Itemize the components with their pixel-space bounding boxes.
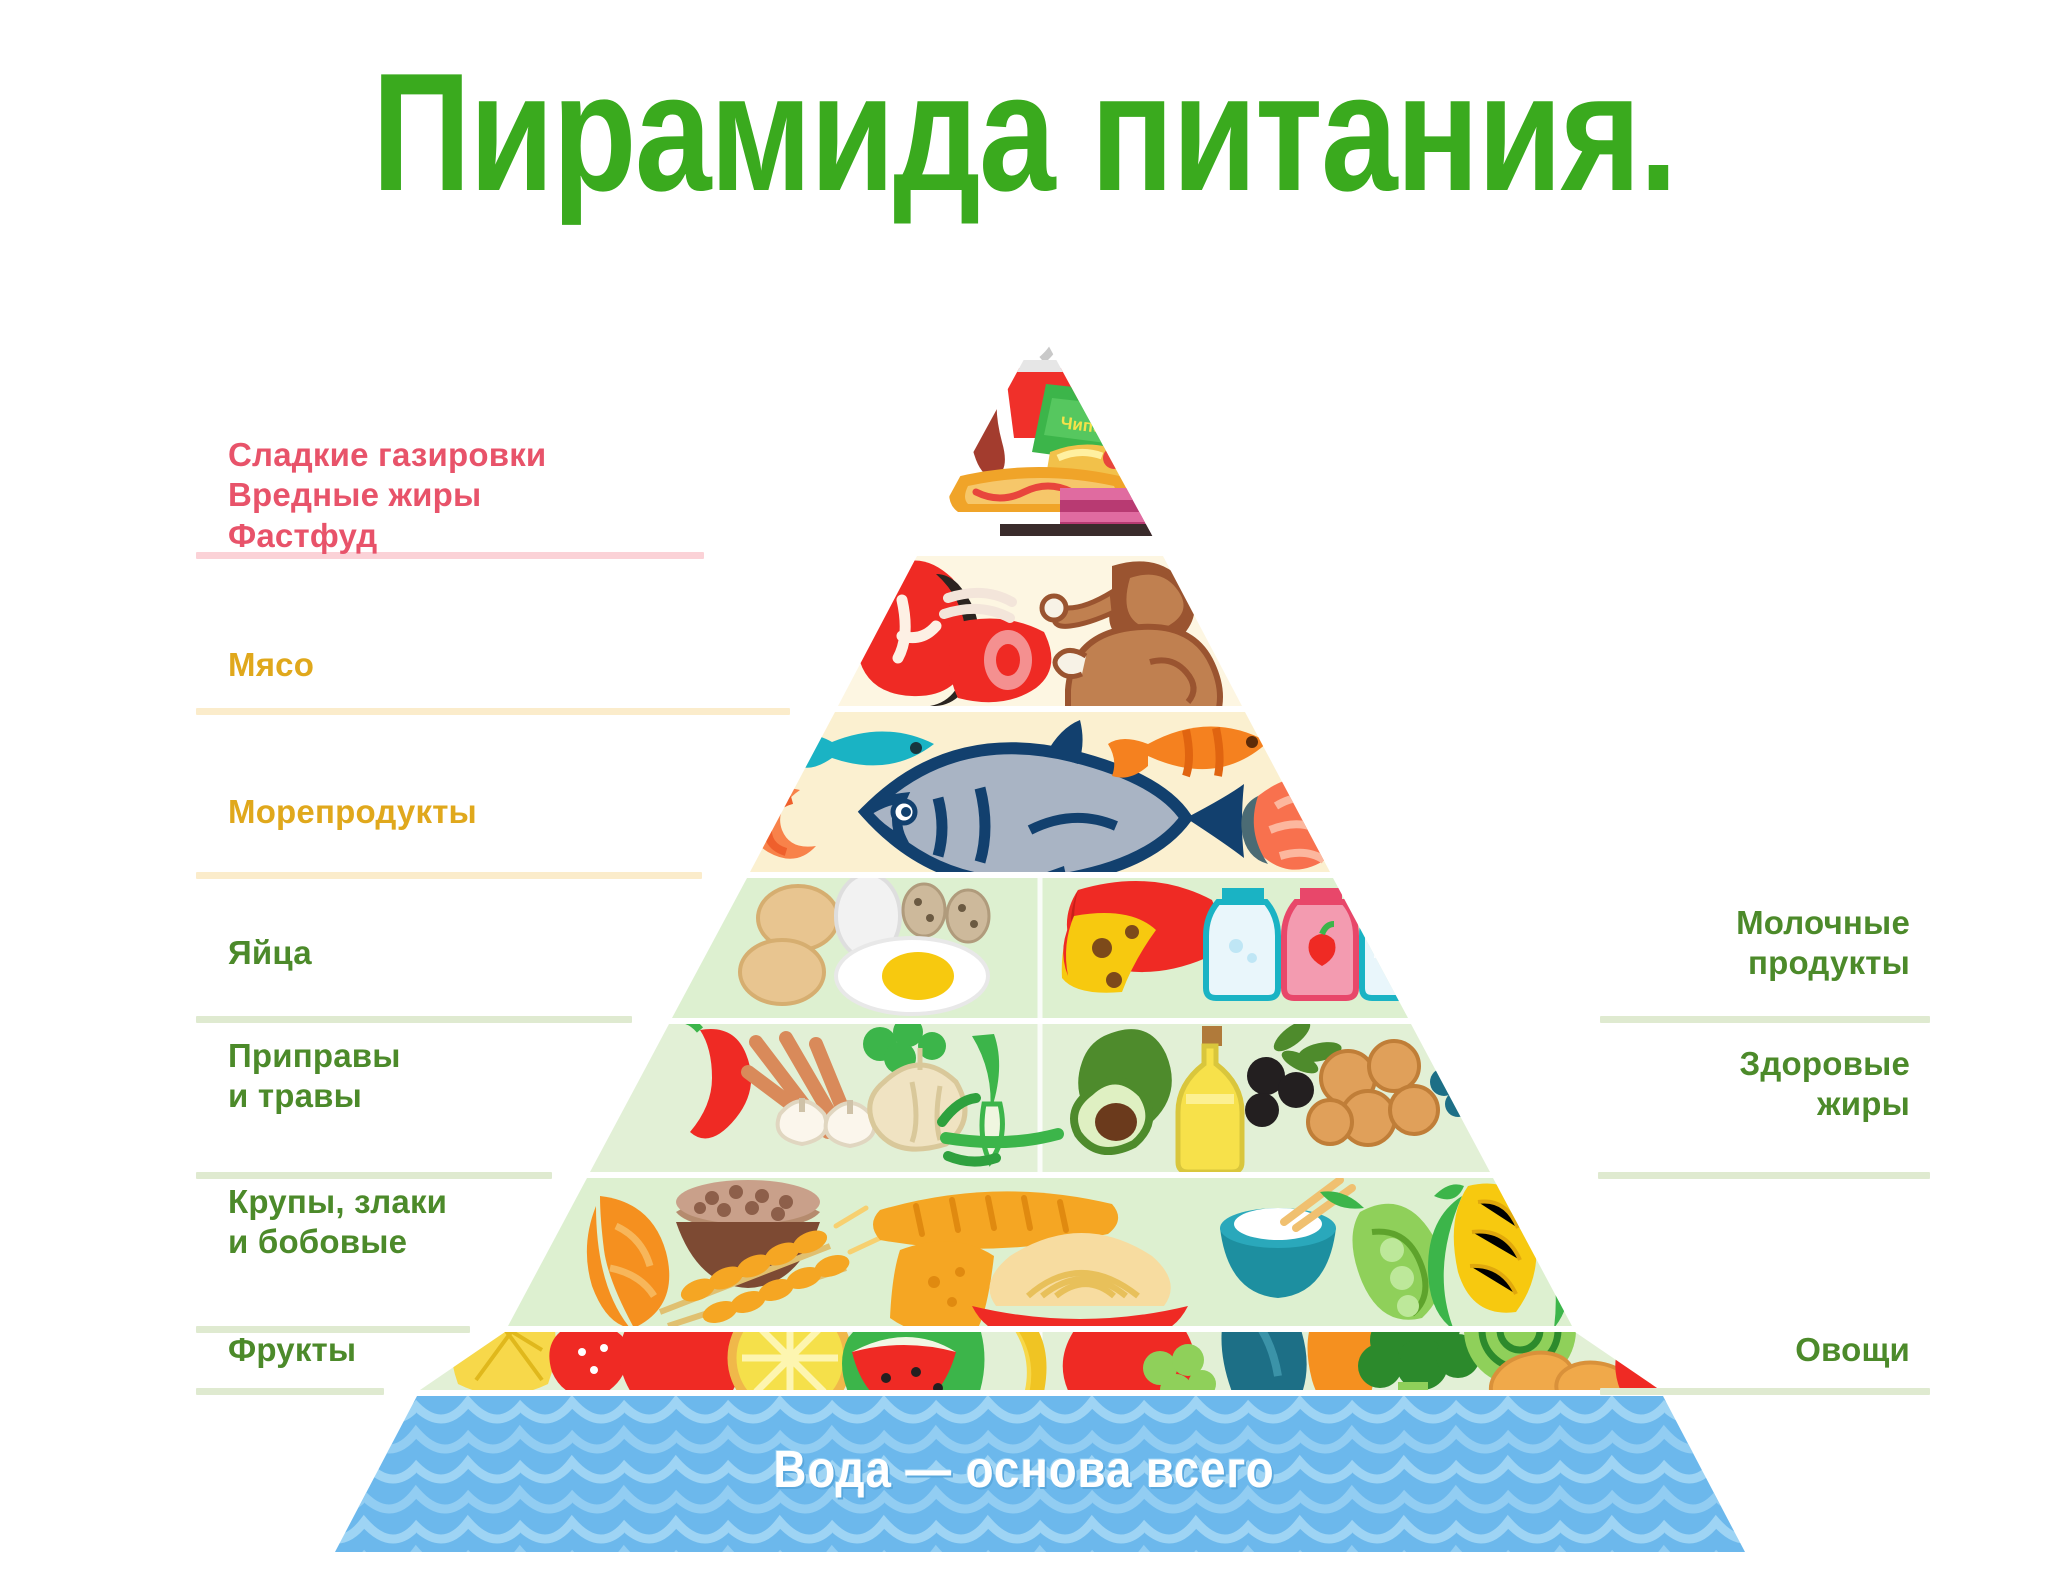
label-grains: Крупы, злаки и бобовые	[228, 1182, 447, 1263]
rule-eggs	[196, 1016, 632, 1023]
rule-healthy-fats	[1598, 1172, 1930, 1179]
rule-dairy	[1600, 1016, 1930, 1023]
label-seafood: Морепродукты	[228, 792, 477, 832]
label-healthy-fats: Здоровые жиры	[1739, 1044, 1910, 1125]
label-eggs: Яйца	[228, 933, 312, 973]
tier-items-junkfood: Чипсы	[949, 316, 1172, 536]
label-herbs: Приправы и травы	[228, 1036, 401, 1117]
milk-bottle-icon	[1206, 888, 1278, 998]
sausage-icon	[969, 380, 1004, 477]
rule-seafood	[196, 872, 702, 879]
label-vegetables: Овощи	[1795, 1330, 1910, 1370]
label-junk-food: Сладкие газировки Вредные жиры Фастфуд	[228, 435, 546, 556]
soda-straw-icon	[1042, 316, 1057, 360]
label-meat: Мясо	[228, 645, 314, 685]
quail-egg-icon-2	[947, 890, 989, 942]
label-fruits: Фрукты	[228, 1330, 356, 1370]
milk-glass-icon	[1448, 936, 1494, 998]
bread-slice-icon	[890, 1241, 994, 1334]
yogurt-bottle-icon	[1284, 888, 1356, 998]
water-bottle-icon	[1362, 888, 1434, 998]
rule-meat	[196, 708, 790, 715]
food-pyramid-infographic: Чипсы	[0, 0, 2048, 1584]
fried-egg-icon	[836, 938, 988, 1014]
grape-leaf-icon	[1484, 1073, 1542, 1109]
rule-vegetables	[1600, 1388, 1930, 1395]
rule-fruits	[196, 1388, 384, 1395]
water-caption: Вода — основа всего	[123, 1440, 1925, 1500]
brown-egg-icon-2	[740, 940, 824, 1004]
label-dairy: Молочные продукты	[1736, 903, 1910, 984]
rule-herbs	[196, 1172, 552, 1179]
quail-egg-icon	[903, 884, 945, 936]
